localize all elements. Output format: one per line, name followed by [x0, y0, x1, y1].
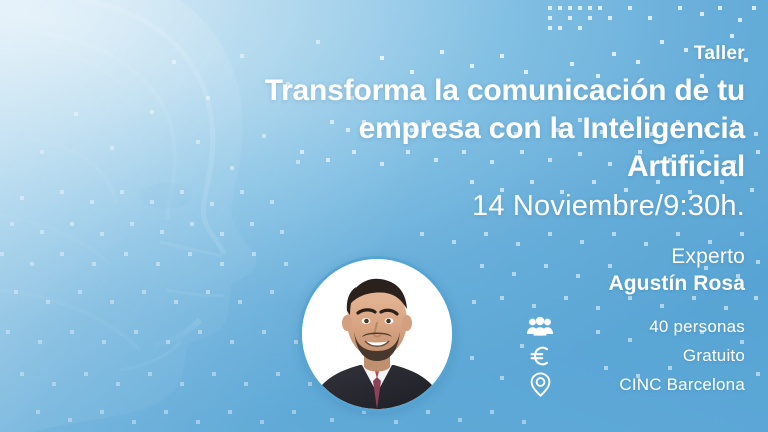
- title-line-2: empresa con la Inteligencia: [185, 110, 745, 148]
- detail-text-capacity: 40 personas: [649, 317, 745, 337]
- title-line-3: Artificial: [185, 148, 745, 186]
- location-pin-icon: [525, 370, 555, 399]
- page-title: Transforma la comunicación de tu empresa…: [185, 72, 745, 186]
- title-line-1: Transforma la comunicación de tu: [185, 72, 745, 110]
- eyebrow-label: Taller: [694, 43, 745, 65]
- event-datetime: 14 Noviembre/9:30h.: [472, 190, 745, 223]
- detail-text-location: CINC Barcelona: [619, 375, 745, 395]
- detail-row-location: CINC Barcelona: [525, 370, 745, 399]
- detail-row-price: Gratuito: [525, 341, 745, 370]
- expert-name: Agustín Rosa: [608, 272, 745, 296]
- banner-content: Taller Transforma la comunicación de tu …: [185, 0, 745, 432]
- euro-icon: [525, 341, 555, 370]
- detail-text-price: Gratuito: [683, 346, 745, 366]
- event-details-list: 40 personas Gratuito: [525, 312, 745, 399]
- expert-label: Experto: [671, 245, 745, 269]
- people-icon: [525, 312, 555, 341]
- detail-row-capacity: 40 personas: [525, 312, 745, 341]
- event-banner: Taller Transforma la comunicación de tu …: [0, 0, 768, 432]
